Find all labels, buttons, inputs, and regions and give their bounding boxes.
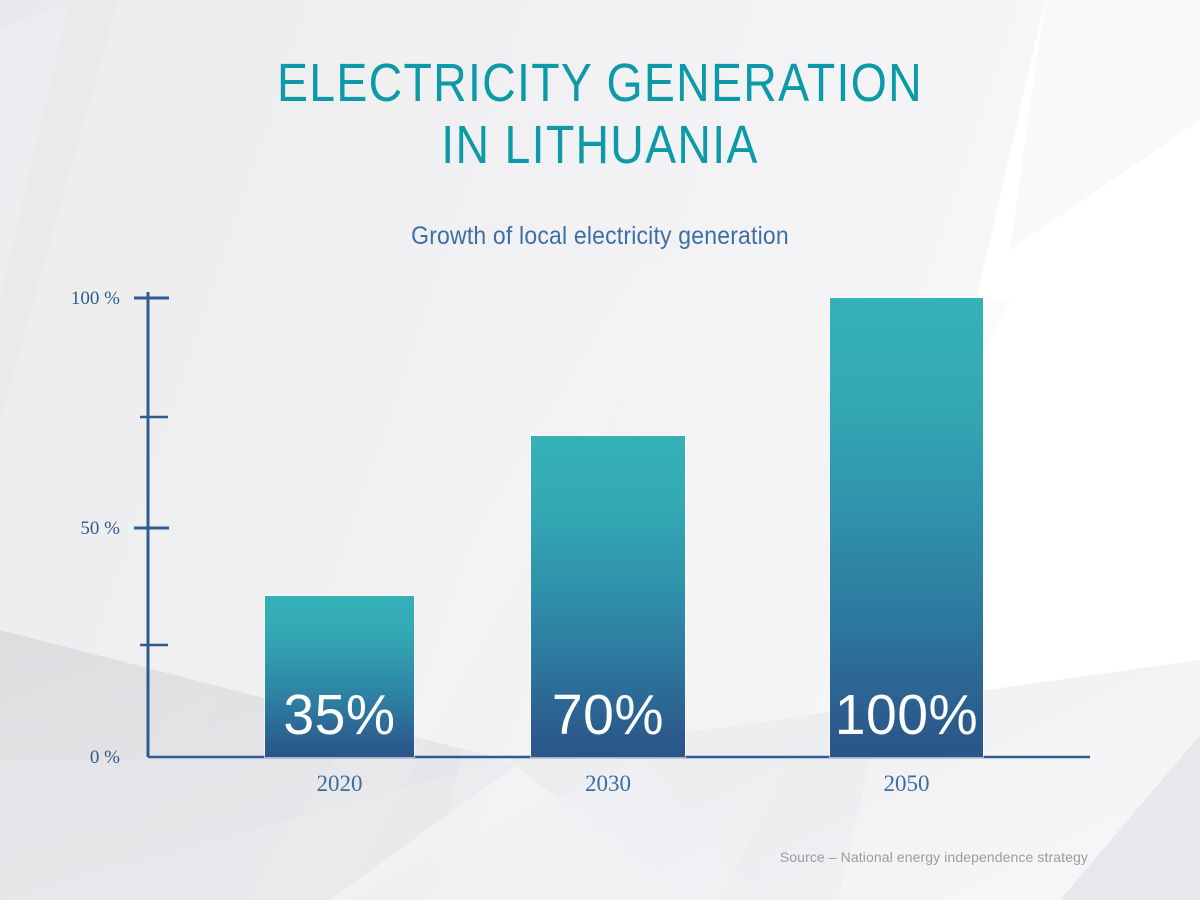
- slide-canvas: ELECTRICITY GENERATION IN LITHUANIA Grow…: [0, 0, 1200, 900]
- category-label-2030: 2030: [531, 771, 685, 797]
- slide-subtitle: Growth of local electricity generation: [48, 222, 1152, 251]
- y-tick-label-100: 100 %: [30, 288, 120, 310]
- bar-value-2050: 100%: [828, 682, 984, 748]
- bar-value-2020: 35%: [267, 682, 412, 748]
- category-label-2050: 2050: [830, 771, 983, 797]
- slide-title: ELECTRICITY GENERATION IN LITHUANIA: [0, 52, 1200, 176]
- category-label-2020: 2020: [265, 771, 414, 797]
- title-line-1: ELECTRICITY GENERATION: [84, 52, 1116, 114]
- y-tick-label-50: 50 %: [30, 518, 120, 540]
- bar-value-2030: 70%: [533, 682, 682, 748]
- source-note: Source – National energy independence st…: [780, 849, 1088, 865]
- title-line-2: IN LITHUANIA: [84, 114, 1116, 176]
- y-tick-label-0: 0 %: [30, 747, 120, 769]
